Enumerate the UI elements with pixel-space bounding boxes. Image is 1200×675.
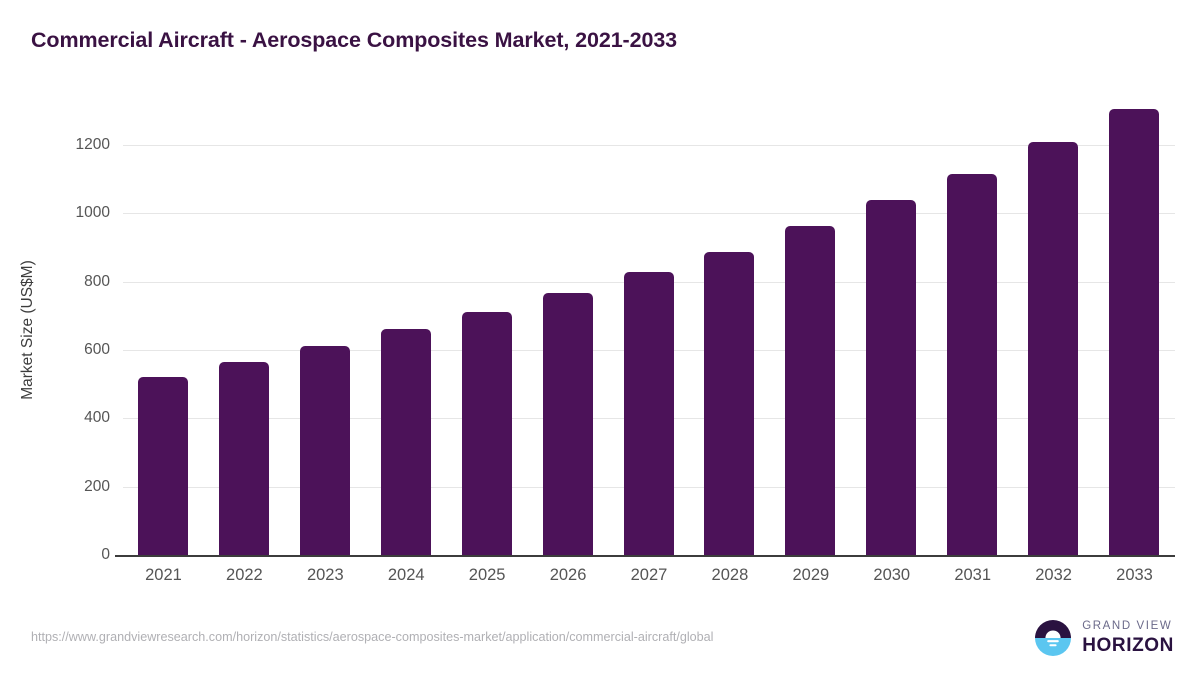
bar[interactable]: [1109, 109, 1159, 555]
logo-line-1: GRAND VIEW: [1082, 621, 1174, 633]
bar[interactable]: [462, 312, 512, 555]
bar[interactable]: [381, 329, 431, 555]
x-axis-line: [115, 555, 1175, 557]
bar[interactable]: [543, 293, 593, 555]
logo-wordmark: GRAND VIEW HORIZON: [1082, 621, 1174, 655]
source-url[interactable]: https://www.grandviewresearch.com/horizo…: [31, 630, 713, 644]
x-axis-ticks: 2021202220232024202520262027202820292030…: [123, 566, 1175, 594]
x-tick-label: 2024: [366, 566, 447, 585]
x-tick-label: 2023: [285, 566, 366, 585]
x-tick-label: 2025: [447, 566, 528, 585]
bar-group: [1094, 87, 1175, 555]
x-tick-label: 2021: [123, 566, 204, 585]
bar-group: [851, 87, 932, 555]
bar-group: [123, 87, 204, 555]
y-axis-label: Market Size (US$M): [19, 150, 37, 510]
bar-group: [932, 87, 1013, 555]
x-tick-label: 2033: [1094, 566, 1175, 585]
y-axis-ticks: 020040060080010001200: [0, 87, 110, 555]
bar[interactable]: [947, 174, 997, 555]
bar-group: [1013, 87, 1094, 555]
chart-page: Commercial Aircraft - Aerospace Composit…: [0, 0, 1200, 675]
y-tick-label: 1200: [76, 136, 110, 154]
x-tick-label: 2022: [204, 566, 285, 585]
bar[interactable]: [1028, 142, 1078, 555]
bar-group: [689, 87, 770, 555]
bar-group: [366, 87, 447, 555]
x-tick-label: 2032: [1013, 566, 1094, 585]
bar[interactable]: [300, 346, 350, 555]
bar-series: [123, 87, 1175, 555]
bar[interactable]: [704, 252, 754, 555]
x-tick-label: 2029: [770, 566, 851, 585]
bar[interactable]: [785, 226, 835, 555]
x-tick-label: 2030: [851, 566, 932, 585]
x-tick-label: 2026: [528, 566, 609, 585]
x-tick-label: 2028: [689, 566, 770, 585]
bar-group: [528, 87, 609, 555]
bar-group: [770, 87, 851, 555]
bar[interactable]: [138, 377, 188, 555]
y-tick-label: 200: [84, 478, 110, 496]
x-tick-label: 2027: [609, 566, 690, 585]
bar-group: [609, 87, 690, 555]
horizon-mark-icon: [1033, 618, 1073, 658]
bar-group: [204, 87, 285, 555]
bar-group: [447, 87, 528, 555]
bar[interactable]: [866, 200, 916, 555]
y-tick-label: 1000: [76, 204, 110, 222]
y-tick-label: 0: [101, 546, 110, 564]
y-tick-label: 800: [84, 273, 110, 291]
bar-group: [285, 87, 366, 555]
y-tick-label: 600: [84, 341, 110, 359]
bar[interactable]: [219, 362, 269, 555]
x-tick-label: 2031: [932, 566, 1013, 585]
y-tick-label: 400: [84, 409, 110, 427]
page-title: Commercial Aircraft - Aerospace Composit…: [31, 28, 677, 53]
grand-view-horizon-logo[interactable]: GRAND VIEW HORIZON: [1033, 618, 1174, 658]
logo-line-2: HORIZON: [1082, 636, 1174, 655]
bar[interactable]: [624, 272, 674, 555]
